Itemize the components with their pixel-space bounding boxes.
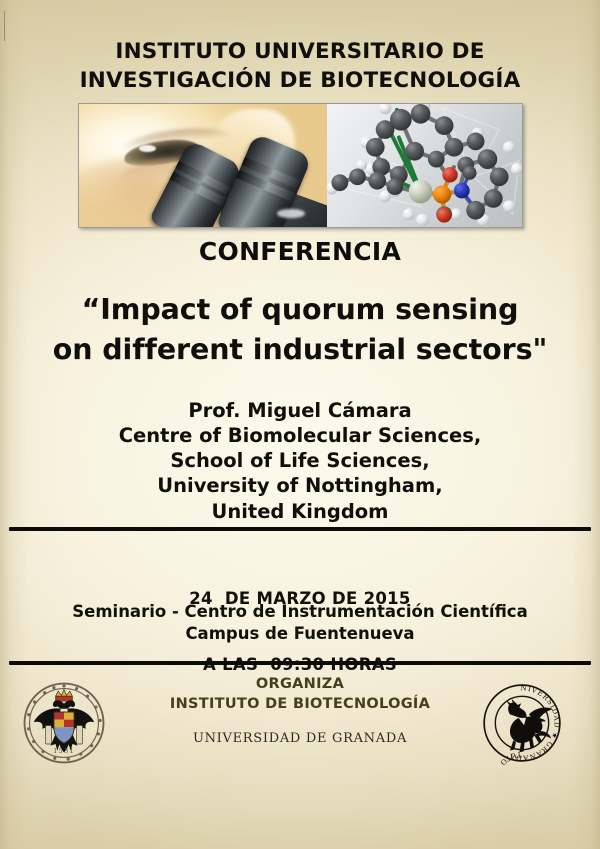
- divider-bottom: [9, 661, 591, 665]
- banner-image: [78, 103, 523, 228]
- pegasus-seal-svg: UNIVERSIDAD ★ GRANADA INSTITUTO ★ BIOTEC…: [479, 680, 565, 766]
- institute-header: INSTITUTO UNIVERSITARIO DE INVESTIGACIÓN…: [0, 38, 600, 95]
- eye-glint: [139, 145, 156, 152]
- speaker-block: Prof. Miguel Cámara Centre of Biomolecul…: [0, 398, 600, 524]
- speaker-name: Prof. Miguel Cámara: [0, 398, 600, 423]
- metal-center-atom: [409, 180, 433, 204]
- speaker-affiliation-3: University of Nottingham,: [0, 473, 600, 498]
- molecule-model: [327, 104, 522, 227]
- oxygen-atom-1: [442, 167, 457, 182]
- talk-title-line1: “Impact of quorum sensing: [82, 293, 519, 326]
- phosphorus-atom: [433, 185, 451, 203]
- institute-header-line1: INSTITUTO UNIVERSITARIO DE: [115, 39, 484, 64]
- speaker-affiliation-1: Centre of Biomolecular Sciences,: [0, 423, 600, 448]
- svg-text:1531: 1531: [53, 747, 75, 755]
- speaker-affiliation-4: United Kingdom: [0, 499, 600, 524]
- university-of-granada-crest: 1531: [22, 678, 106, 768]
- nitrogen-atom: [454, 183, 470, 199]
- talk-title: “Impact of quorum sensing on different i…: [0, 290, 600, 371]
- text-caret-artifact: [4, 11, 5, 41]
- talk-title-line2: on different industrial sectors": [0, 330, 600, 370]
- institute-header-line2: INVESTIGACIÓN DE BIOTECNOLOGÍA: [0, 67, 600, 96]
- molecule-svg: [327, 104, 522, 227]
- event-venue: Seminario - Centro de Instrumentación Ci…: [0, 601, 600, 646]
- venue-line1: Seminario - Centro de Instrumentación Ci…: [0, 601, 600, 623]
- institute-of-biotechnology-seal: UNIVERSIDAD ★ GRANADA INSTITUTO ★ BIOTEC…: [479, 680, 565, 766]
- divider-top: [9, 527, 591, 531]
- ugr-crest-svg: 1531: [22, 678, 106, 768]
- venue-line2: Campus de Fuentenueva: [0, 623, 600, 645]
- conference-poster: INSTITUTO UNIVERSITARIO DE INVESTIGACIÓN…: [0, 0, 600, 849]
- oxygen-atom-2: [437, 208, 452, 223]
- event-type-label: CONFERENCIA: [0, 237, 600, 266]
- speaker-affiliation-2: School of Life Sciences,: [0, 448, 600, 473]
- microscope-photo: [79, 104, 327, 227]
